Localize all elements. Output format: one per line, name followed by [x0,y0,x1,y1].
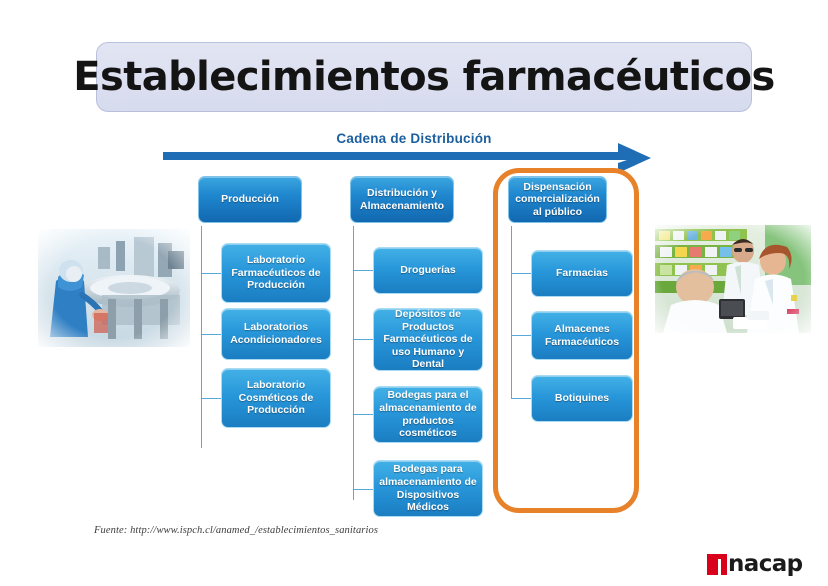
slide-title-banner: Establecimientos farmacéuticos [96,42,752,112]
connector-rail [353,226,354,500]
connector-stub [511,398,532,399]
node-farmacias[interactable]: Farmacias [531,250,633,297]
connector-stub [201,398,222,399]
connector-stub [353,270,374,271]
connector-stub [353,489,374,490]
connector-stub [353,339,374,340]
pharmacy-counter-photo [655,225,811,333]
node-depositos-productos-farmaceuticos[interactable]: Depósitos de Productos Farmacéuticos de … [373,308,483,371]
inacap-logo-wordmark: nacap [728,551,803,577]
source-note: Fuente: http://www.ispch.cl/anamed_/esta… [94,525,378,536]
node-laboratorio-farmaceuticos-produccion[interactable]: Laboratorio Farmacéuticos de Producción [221,243,331,303]
pharma-production-photo [38,229,190,347]
connector-rail [201,226,202,448]
connector-stub [511,335,532,336]
node-header-distribucion-almacenamiento[interactable]: Distribución y Almacenamiento [350,176,454,223]
connector-stub [353,414,374,415]
inacap-logo-mark-icon [707,554,727,575]
connector-stub [201,273,222,274]
node-botiquines[interactable]: Botiquines [531,375,633,422]
connector-stub [511,273,532,274]
node-laboratorios-acondicionadores[interactable]: Laboratorios Acondicionadores [221,308,331,360]
connector-stub [201,334,222,335]
node-bodegas-productos-cosmeticos[interactable]: Bodegas para el almacenamiento de produc… [373,386,483,443]
node-laboratorio-cosmeticos-produccion[interactable]: Laboratorio Cosméticos de Producción [221,368,331,428]
page-title: Establecimientos farmacéuticos [73,54,774,100]
connector-rail [511,226,512,398]
inacap-logo: nacap [707,551,803,577]
node-droguerias[interactable]: Droguerías [373,247,483,294]
node-bodegas-dispositivos-medicos[interactable]: Bodegas para almacenamiento de Dispositi… [373,460,483,517]
node-almacenes-farmaceuticos[interactable]: Almacenes Farmacéuticos [531,311,633,360]
node-header-dispensacion-comercializacion[interactable]: Dispensación comercialización al público [508,176,607,223]
node-header-produccion[interactable]: Producción [198,176,302,223]
